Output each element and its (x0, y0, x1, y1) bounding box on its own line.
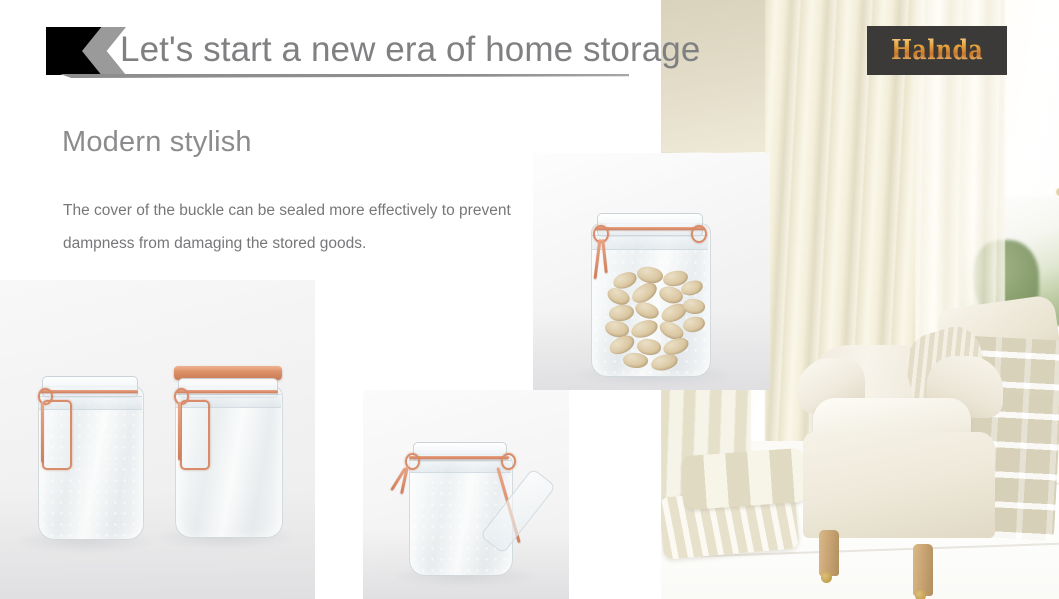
brand-logo: Halnda (867, 26, 1007, 75)
copper-clasp-bar (40, 390, 138, 393)
section-subheading: Modern stylish (62, 126, 252, 159)
copper-clasp-bar (595, 227, 705, 230)
copper-clasp-arm (41, 402, 44, 462)
floor-pillow-checked (681, 448, 806, 510)
panel-jar-with-peanuts (533, 153, 770, 390)
header-underline (60, 74, 629, 78)
slide-canvas: Let's start a new era of home storage Mo… (0, 0, 1059, 599)
jar-textured-art (36, 372, 144, 538)
jar-rim (597, 213, 703, 237)
copper-clasp-loop-right (691, 225, 707, 243)
ceiling-block (661, 0, 773, 152)
brand-logo-text: Halnda (891, 35, 983, 66)
armchair-seat (803, 432, 995, 538)
copper-clasp-gate (42, 400, 72, 470)
copper-clasp-gate (180, 400, 210, 470)
jar-copper-lid-art (172, 364, 284, 534)
copper-clasp-arm (178, 402, 181, 460)
page-title: Let's start a new era of home storage (120, 26, 700, 74)
panel-two-jars (0, 280, 315, 599)
armchair-leg-right (913, 544, 933, 596)
copper-clasp-loop-right (501, 453, 516, 470)
jar-neck-band (409, 460, 511, 473)
armchair-caster-right (915, 590, 926, 599)
armchair-caster-left (821, 572, 832, 583)
section-body-text: The cover of the buckle can be sealed mo… (63, 194, 533, 260)
armchair-leg-left (819, 530, 839, 576)
copper-clasp-bar (409, 456, 509, 459)
jar-open-lid-art (407, 440, 513, 574)
panel-jar-open-lid (363, 390, 569, 599)
copper-clasp-bar (176, 390, 278, 393)
jar-with-peanuts-art (589, 205, 711, 375)
jar-rim (42, 376, 138, 398)
